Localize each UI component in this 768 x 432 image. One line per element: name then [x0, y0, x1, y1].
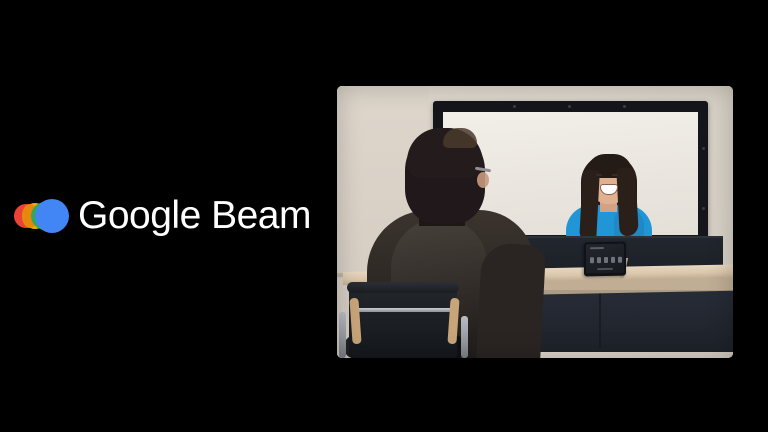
tablet-screen [586, 244, 624, 274]
slide-canvas: Google Beam [0, 0, 768, 432]
remote-eye-right [612, 174, 618, 176]
bezel-camera-2-icon [568, 105, 571, 108]
tablet-icon [590, 257, 594, 263]
participant-hair-highlight [443, 128, 477, 148]
chair-backrest [349, 286, 457, 358]
tablet-icon-row [590, 257, 624, 264]
product-photo [337, 86, 733, 358]
bezel-sensor-right-1-icon [702, 147, 705, 150]
tablet-icon [618, 257, 622, 263]
tablet-icon [597, 257, 601, 263]
chair-chrome-bar [355, 308, 451, 312]
bezel-camera-1-icon [513, 105, 516, 108]
bezel-sensor-right-2-icon [702, 207, 705, 210]
tablet-footer-bar [597, 268, 613, 270]
tablet-icon [611, 257, 615, 263]
chair-post-right [461, 316, 468, 358]
participant-ear [477, 172, 489, 188]
chair-post-left [339, 312, 346, 358]
tablet-icon [604, 257, 608, 263]
tablet-title-bar [590, 247, 604, 249]
remote-hair-right [616, 168, 639, 237]
chair-headroll [347, 282, 459, 293]
desk-panel-seam [599, 292, 601, 348]
brand-lockup: Google Beam [14, 196, 311, 235]
brand-title: Google Beam [78, 196, 311, 235]
participant-right-shoulder [476, 242, 546, 358]
remote-eye-left [596, 174, 602, 176]
bezel-camera-3-icon [623, 105, 626, 108]
logo-circle-blue-icon [35, 199, 69, 233]
google-beam-logo-icon [14, 197, 64, 235]
tablet-controller [584, 242, 626, 277]
